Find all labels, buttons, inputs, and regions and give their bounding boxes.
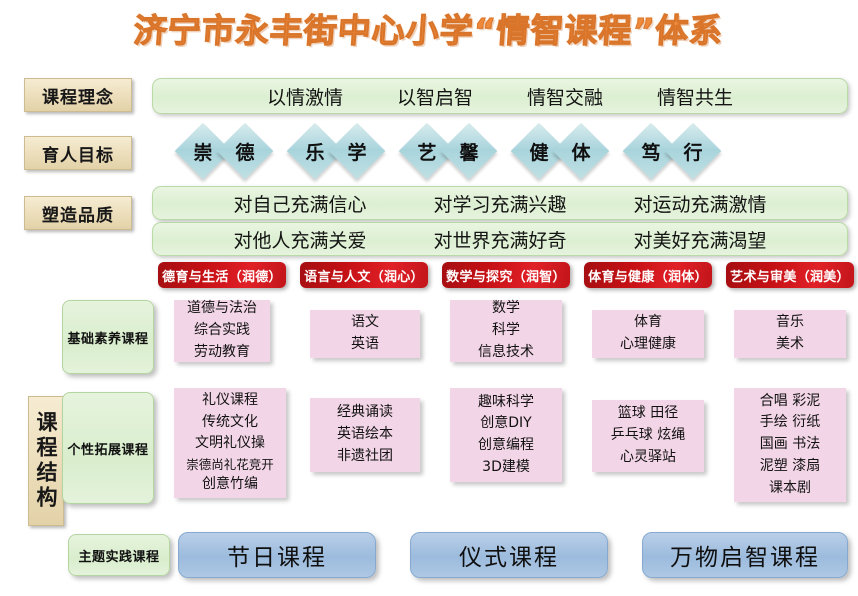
row-label-foundation: 基础素养课程 bbox=[62, 300, 154, 374]
page-title: 济宁市永丰街中心小学“情智课程”体系 bbox=[133, 4, 726, 52]
course-item: 语文 bbox=[351, 312, 379, 334]
column-header-moral: 德育与生活（润德） bbox=[158, 262, 286, 288]
structure-cell-r1c0: 礼仪课程 传统文化 文明礼仪操 崇德尚礼花竞开 创意竹编 bbox=[174, 388, 286, 498]
philosophy-item-3: 情智共生 bbox=[630, 83, 760, 110]
philosophy-item-1: 以智启智 bbox=[370, 83, 500, 110]
philosophy-item-0: 以情激情 bbox=[240, 83, 370, 110]
structure-cell-r0c1: 语文 英语 bbox=[310, 310, 420, 358]
course-item: 非遗社团 bbox=[337, 446, 393, 468]
quality-row2-item-0: 对他人充满关爱 bbox=[200, 226, 400, 253]
page-title-container: 济宁市永丰街中心小学“情智课程”体系 bbox=[0, 4, 858, 52]
course-item: 心灵驿站 bbox=[620, 447, 676, 469]
goal-diamond-label-9: 行 bbox=[673, 131, 713, 171]
philosophy-bar: 以情激情 以智启智 情智交融 情智共生 bbox=[152, 78, 848, 114]
goal-diamond-label-1: 德 bbox=[225, 131, 265, 171]
column-header-language: 语言与人文（润心） bbox=[300, 262, 428, 288]
sidebar-label-goals-text: 育人目标 bbox=[42, 141, 114, 166]
quality-row2-item-2: 对美好充满渴望 bbox=[600, 226, 800, 253]
course-item: 创意竹编 bbox=[202, 474, 258, 496]
course-item: 数学 bbox=[492, 298, 520, 320]
structure-cell-r1c2: 趣味科学 创意DIY 创意编程 3D建模 bbox=[450, 388, 562, 482]
goal-diamond-label-7: 体 bbox=[561, 131, 601, 171]
structure-cell-r1c1: 经典诵读 英语绘本 非遗社团 bbox=[310, 398, 420, 472]
philosophy-item-2: 情智交融 bbox=[500, 83, 630, 110]
course-item: 体育 bbox=[634, 312, 662, 334]
course-item: 泥塑 漆扇 bbox=[760, 456, 820, 478]
course-item: 综合实践 bbox=[194, 320, 250, 342]
course-item: 创意编程 bbox=[478, 435, 534, 457]
sidebar-label-goals: 育人目标 bbox=[24, 136, 132, 170]
sidebar-label-philosophy-text: 课程理念 bbox=[42, 83, 114, 108]
course-item: 劳动教育 bbox=[194, 342, 250, 364]
row-label-expansion: 个性拓展课程 bbox=[62, 392, 154, 504]
course-item: 崇德尚礼花竞开 bbox=[186, 455, 274, 474]
sidebar-label-qualities: 塑造品质 bbox=[24, 196, 132, 230]
structure-cell-r1c3: 篮球 田径 乒乓球 炫绳 心灵驿站 bbox=[592, 400, 704, 472]
column-header-math: 数学与探究（润智） bbox=[442, 262, 570, 288]
course-item: 英语 bbox=[351, 334, 379, 356]
sidebar-label-philosophy: 课程理念 bbox=[24, 78, 132, 112]
structure-cell-r0c3: 体育 心理健康 bbox=[592, 310, 704, 358]
course-item: 音乐 bbox=[776, 312, 804, 334]
course-item: 3D建模 bbox=[482, 457, 530, 479]
course-item: 英语绘本 bbox=[337, 424, 393, 446]
course-item: 道德与法治 bbox=[187, 298, 257, 320]
quality-row1-item-2: 对运动充满激情 bbox=[600, 190, 800, 217]
practice-course-festival: 节日课程 bbox=[178, 532, 376, 578]
course-item: 合唱 彩泥 bbox=[760, 391, 820, 413]
sidebar-label-structure: 课程结构 bbox=[28, 396, 64, 526]
column-header-art: 艺术与审美（润美） bbox=[726, 262, 854, 288]
goal-diamond-label-3: 学 bbox=[337, 131, 377, 171]
course-item: 篮球 田径 bbox=[618, 403, 678, 425]
course-item: 经典诵读 bbox=[337, 402, 393, 424]
course-item: 文明礼仪操 bbox=[195, 433, 265, 455]
practice-course-ceremony: 仪式课程 bbox=[410, 532, 608, 578]
course-item: 国画 书法 bbox=[760, 434, 820, 456]
qualities-bar-row2: 对他人充满关爱 对世界充满好奇 对美好充满渴望 bbox=[152, 222, 848, 256]
sidebar-label-structure-text: 课程结构 bbox=[31, 411, 61, 511]
practice-course-enlighten: 万物启智课程 bbox=[642, 532, 848, 578]
course-item: 科学 bbox=[492, 320, 520, 342]
course-item: 美术 bbox=[776, 334, 804, 356]
qualities-bar-row1: 对自己充满信心 对学习充满兴趣 对运动充满激情 bbox=[152, 186, 848, 220]
sidebar-label-qualities-text: 塑造品质 bbox=[42, 201, 114, 226]
course-item: 课本剧 bbox=[769, 478, 811, 500]
course-item: 信息技术 bbox=[478, 342, 534, 364]
structure-cell-r0c4: 音乐 美术 bbox=[734, 310, 846, 358]
quality-row1-item-0: 对自己充满信心 bbox=[200, 190, 400, 217]
course-item: 创意DIY bbox=[480, 413, 531, 435]
goal-diamond-label-5: 馨 bbox=[449, 131, 489, 171]
course-item: 乒乓球 炫绳 bbox=[611, 425, 685, 447]
course-item: 传统文化 bbox=[202, 412, 258, 434]
practice-label: 主题实践课程 bbox=[68, 534, 170, 576]
quality-row2-item-1: 对世界充满好奇 bbox=[400, 226, 600, 253]
course-item: 趣味科学 bbox=[478, 392, 534, 414]
structure-cell-r0c0: 道德与法治 综合实践 劳动教育 bbox=[174, 300, 270, 362]
course-item: 心理健康 bbox=[620, 334, 676, 356]
structure-cell-r0c2: 数学 科学 信息技术 bbox=[450, 300, 562, 362]
quality-row1-item-1: 对学习充满兴趣 bbox=[400, 190, 600, 217]
course-item: 礼仪课程 bbox=[202, 390, 258, 412]
column-header-pe: 体育与健康（润体） bbox=[584, 262, 712, 288]
course-item: 手绘 衍纸 bbox=[760, 412, 820, 434]
structure-cell-r1c4: 合唱 彩泥 手绘 衍纸 国画 书法 泥塑 漆扇 课本剧 bbox=[734, 388, 846, 502]
